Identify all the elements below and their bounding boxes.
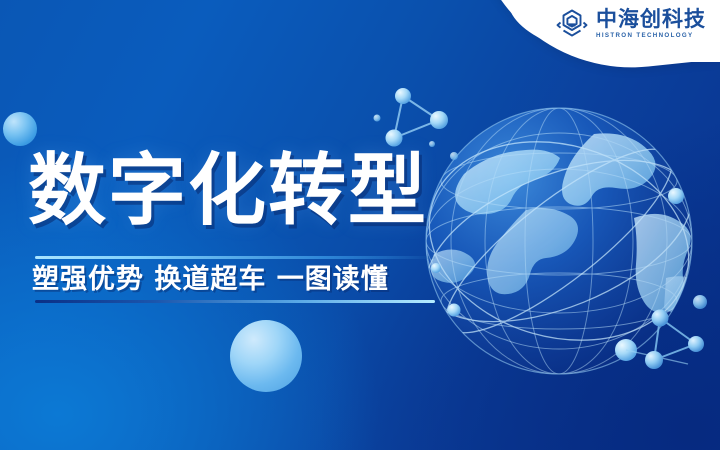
rule-bottom <box>35 300 435 303</box>
page-subtitle: 塑强优势 换道超车 一图读懂 <box>32 263 389 297</box>
brand-text: 中海创科技 HISTRON TECHNOLOGY <box>596 9 706 39</box>
banner-root: 数字化转型 塑强优势 换道超车 一图读懂 中海创科技 HISTRON TECHN… <box>0 0 720 450</box>
brand-name-cn: 中海创科技 <box>596 9 706 30</box>
rule-top <box>35 256 435 259</box>
decor-sphere-large <box>230 320 302 392</box>
decor-sphere-small <box>3 112 37 146</box>
node-cluster-bottom <box>638 288 720 380</box>
histron-emblem-icon <box>555 7 589 41</box>
page-title: 数字化转型 <box>28 152 428 230</box>
brand-logo[interactable]: 中海创科技 HISTRON TECHNOLOGY <box>555 7 706 41</box>
brand-name-en: HISTRON TECHNOLOGY <box>596 33 706 39</box>
